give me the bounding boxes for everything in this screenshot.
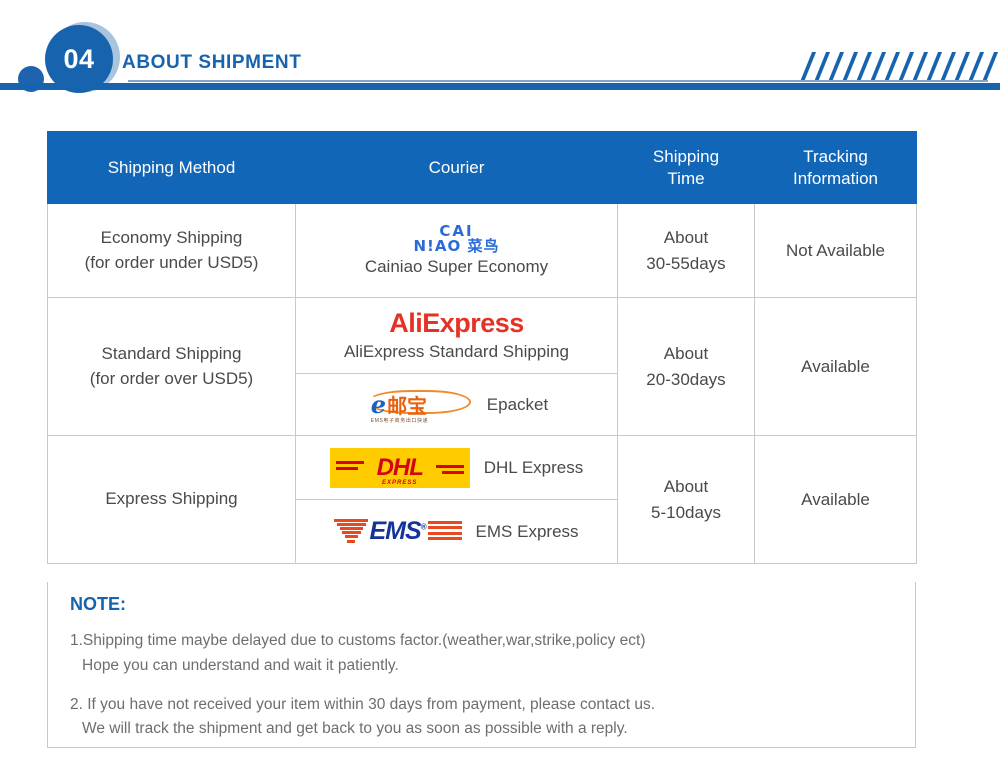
dhl-logo-subtext: EXPRESS [330,480,470,486]
ems-triangle-bar [334,519,368,522]
table-row-economy: Economy Shipping (for order under USD5) … [48,204,917,298]
cell-courier-aliexpress: AliExpress AliExpress Standard Shipping [296,298,618,374]
ems-triangle-bar [337,523,366,526]
ems-registered-mark: ® [421,523,426,532]
cell-courier-cainiao: CAI N!AO 菜鸟 Cainiao Super Economy [296,204,618,298]
tracking-express-value: Available [755,487,916,513]
method-standard-line1: Standard Shipping [56,342,287,367]
column-header-tracking-line1: Tracking [755,146,916,167]
ems-logo: EMS® [334,515,461,549]
column-header-tracking-information: Tracking Information [755,132,917,204]
cainiao-logo-line2: N!AO 菜鸟 [414,239,500,254]
table-row-express-dhl: Express Shipping DHL EXPRESS DHL Express [48,436,917,500]
cell-method-standard: Standard Shipping (for order over USD5) [48,298,296,436]
method-express-line1: Express Shipping [48,481,295,518]
ems-triangle-bar [347,540,355,543]
cell-time-economy: About 30-55days [618,204,755,298]
column-header-tracking-line2: Information [755,168,916,189]
note-item-2: 2. If you have not received your item wi… [70,693,895,743]
column-header-shipping-time-line2: Time [618,168,754,189]
note-title: NOTE: [70,594,895,615]
cell-time-express: About 5-10days [618,436,755,564]
cell-courier-epacket: e 邮宝 EMS电子商务出口快递 Epacket [296,374,618,436]
epacket-logo-text: 邮宝 [387,390,427,419]
courier-label-ems: EMS Express [476,522,579,542]
time-economy-line2: 30-55days [618,251,754,277]
ems-logo-letters: EMS [369,517,420,545]
dhl-logo: DHL EXPRESS [330,448,470,488]
cell-courier-dhl: DHL EXPRESS DHL Express [296,436,618,500]
note-item-2-line1: 2. If you have not received your item wi… [70,693,895,718]
header-stripe [980,52,1000,80]
epacket-logo-tagline: EMS电子商务出口快递 [371,417,428,424]
cell-courier-ems: EMS® EMS Express [296,500,618,564]
column-header-courier: Courier [296,132,618,204]
ems-bar [428,526,462,529]
page-title: ABOUT SHIPMENT [122,52,301,74]
time-express-line2: 5-10days [618,500,754,526]
shipment-info-page: 04 ABOUT SHIPMENT Shipping Method Courie… [0,0,1000,783]
badge-number: 04 [63,44,94,75]
table-header-row: Shipping Method Courier Shipping Time Tr… [48,132,917,204]
shipping-table: Shipping Method Courier Shipping Time Tr… [47,131,917,564]
tracking-economy-value: Not Available [755,238,916,264]
time-express-line1: About [618,474,754,500]
method-economy-line1: Economy Shipping [56,226,287,251]
header-stripes-decoration [800,52,1000,80]
epacket-logo: e 邮宝 EMS电子商务出口快递 [365,388,473,422]
dhl-speedline-left-2 [336,467,358,470]
note-item-1-line1: 1.Shipping time maybe delayed due to cus… [70,629,895,654]
note-item-1-line2: Hope you can understand and wait it pati… [70,654,895,679]
courier-label-cainiao: Cainiao Super Economy [365,257,548,277]
cainiao-logo: CAI N!AO 菜鸟 [414,224,500,254]
time-standard-line1: About [618,341,754,367]
ems-bar [428,521,462,524]
ems-triangle-bar [342,531,360,534]
epacket-e-mark: e [371,390,386,419]
ems-triangle-mark [334,519,368,545]
cell-method-economy: Economy Shipping (for order under USD5) [48,204,296,298]
header-thick-rule [0,83,1000,90]
page-header: 04 ABOUT SHIPMENT [0,0,1000,112]
note-item-2-line2: We will track the shipment and get back … [70,717,895,742]
dhl-logo-text: DHL [377,454,423,482]
aliexpress-logo: AliExpress [389,309,524,339]
header-thin-rule [128,80,988,82]
courier-label-aliexpress: AliExpress Standard Shipping [344,342,569,362]
time-standard-line2: 20-30days [618,367,754,393]
ems-bar [428,532,462,535]
note-item-1: 1.Shipping time maybe delayed due to cus… [70,629,895,679]
method-standard-line2: (for order over USD5) [56,367,287,392]
dhl-speedline-left-1 [336,461,364,464]
courier-label-dhl: DHL Express [484,458,584,478]
ems-logo-text: EMS® [369,517,425,546]
cell-tracking-express: Available [755,436,917,564]
cell-tracking-economy: Not Available [755,204,917,298]
tracking-standard-value: Available [755,354,916,380]
cell-method-express: Express Shipping [48,436,296,564]
cell-time-standard: About 20-30days [618,298,755,436]
note-section: NOTE: 1.Shipping time maybe delayed due … [47,582,916,748]
courier-label-epacket: Epacket [487,395,548,415]
dhl-speedline-right-1 [436,465,464,468]
method-economy-line2: (for order under USD5) [56,251,287,276]
column-header-shipping-method: Shipping Method [48,132,296,204]
ems-triangle-bar [340,527,364,530]
ems-bar [428,537,462,540]
ems-bars-mark [428,521,462,543]
table-row-standard-aliexpress: Standard Shipping (for order over USD5) … [48,298,917,374]
cell-tracking-standard: Available [755,298,917,436]
column-header-shipping-time: Shipping Time [618,132,755,204]
column-header-shipping-time-line1: Shipping [618,146,754,167]
ems-triangle-bar [345,535,358,538]
dhl-speedline-right-2 [442,471,464,474]
time-economy-line1: About [618,225,754,251]
